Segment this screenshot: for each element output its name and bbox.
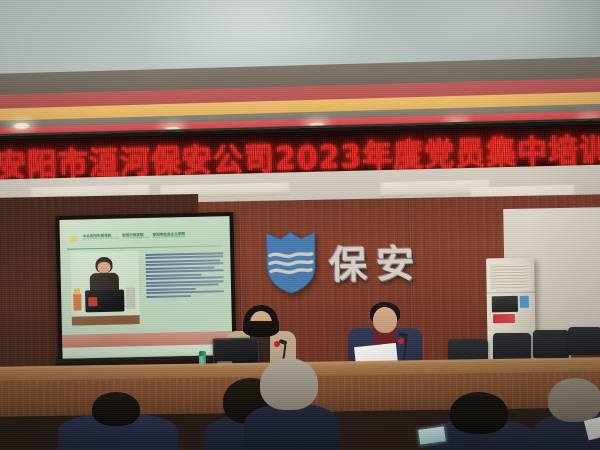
audience-head xyxy=(450,392,508,434)
projection-screen-surface: 中共安阳市委党校 ZhongGongAnYangShiWeiDangXiao 安… xyxy=(59,216,232,359)
slide-org-3: 安阳市社会主义学院 AnYangShiSheHuiZhuYiXueYuan xyxy=(153,232,186,240)
audience-head-grey xyxy=(548,378,600,422)
thermos-cap xyxy=(199,351,206,356)
ac-air-grill xyxy=(490,264,530,291)
audience-chair xyxy=(568,327,600,355)
ac-energy-label xyxy=(520,296,529,308)
audience-member-6 xyxy=(534,378,600,450)
slide-org-1: 中共安阳市委党校 ZhongGongAnYangShiWeiDangXiao xyxy=(83,233,120,241)
audience-head-grey xyxy=(260,358,318,410)
slide-body-text xyxy=(145,251,225,340)
security-company-logo: 保安 xyxy=(262,222,438,299)
slide-lecturer-photo xyxy=(70,252,140,326)
audience-head xyxy=(92,392,140,426)
shield-icon xyxy=(262,229,319,296)
conference-hall-photo: 安阳市洹河保安公司2023年度党员集中培训 xyxy=(0,0,600,450)
audience-suit xyxy=(244,404,340,450)
audience-chair xyxy=(533,330,569,358)
ac-display-panel xyxy=(492,296,518,312)
ac-warning-sticker xyxy=(493,314,515,323)
slide-org-2: 安阳行政学院 AnYangXingZhengXueYuan xyxy=(122,233,150,240)
audience-member-3 xyxy=(238,358,344,450)
audience-member-2 xyxy=(58,392,178,450)
projection-screen: 中共安阳市委党校 ZhongGongAnYangShiWeiDangXiao 安… xyxy=(55,212,236,363)
hammer-sickle-emblem-icon xyxy=(67,232,80,244)
presenter-man-face xyxy=(373,307,397,333)
ac-panel-seam xyxy=(487,292,535,294)
party-badge-icon xyxy=(398,338,404,344)
security-logo-text: 保安 xyxy=(328,232,423,289)
presenter-woman-hair-front xyxy=(243,321,279,337)
